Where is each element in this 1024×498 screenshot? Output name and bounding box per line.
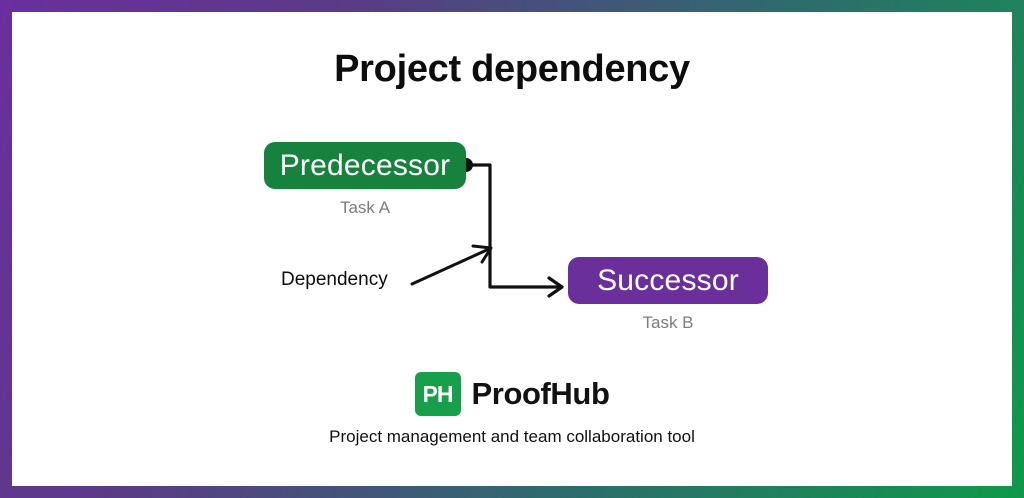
node-successor[interactable]: Successor — [568, 257, 768, 304]
brand-name: ProofHub — [472, 376, 610, 412]
diagram-canvas: Project dependency Predecessor Task A Su… — [12, 12, 1012, 486]
node-successor-label: Successor — [597, 264, 739, 298]
gradient-border-frame: Project dependency Predecessor Task A Su… — [0, 0, 1024, 498]
node-predecessor-label: Predecessor — [280, 149, 451, 183]
dependency-callout-line — [412, 249, 489, 284]
dependency-connector-path — [466, 165, 560, 287]
dependency-annotation-label: Dependency — [281, 269, 388, 291]
node-predecessor[interactable]: Predecessor — [264, 142, 466, 189]
node-successor-caption: Task B — [568, 313, 768, 333]
page-title: Project dependency — [12, 48, 1012, 91]
node-predecessor-caption: Task A — [264, 198, 466, 218]
connector-arrowhead-icon — [549, 278, 562, 296]
proofhub-logo-icon: PH — [415, 372, 461, 416]
brand-lockup: PH ProofHub — [12, 372, 1012, 416]
dependency-callout-arrowhead-icon — [473, 246, 491, 262]
brand-tagline: Project management and team collaboratio… — [12, 427, 1012, 447]
